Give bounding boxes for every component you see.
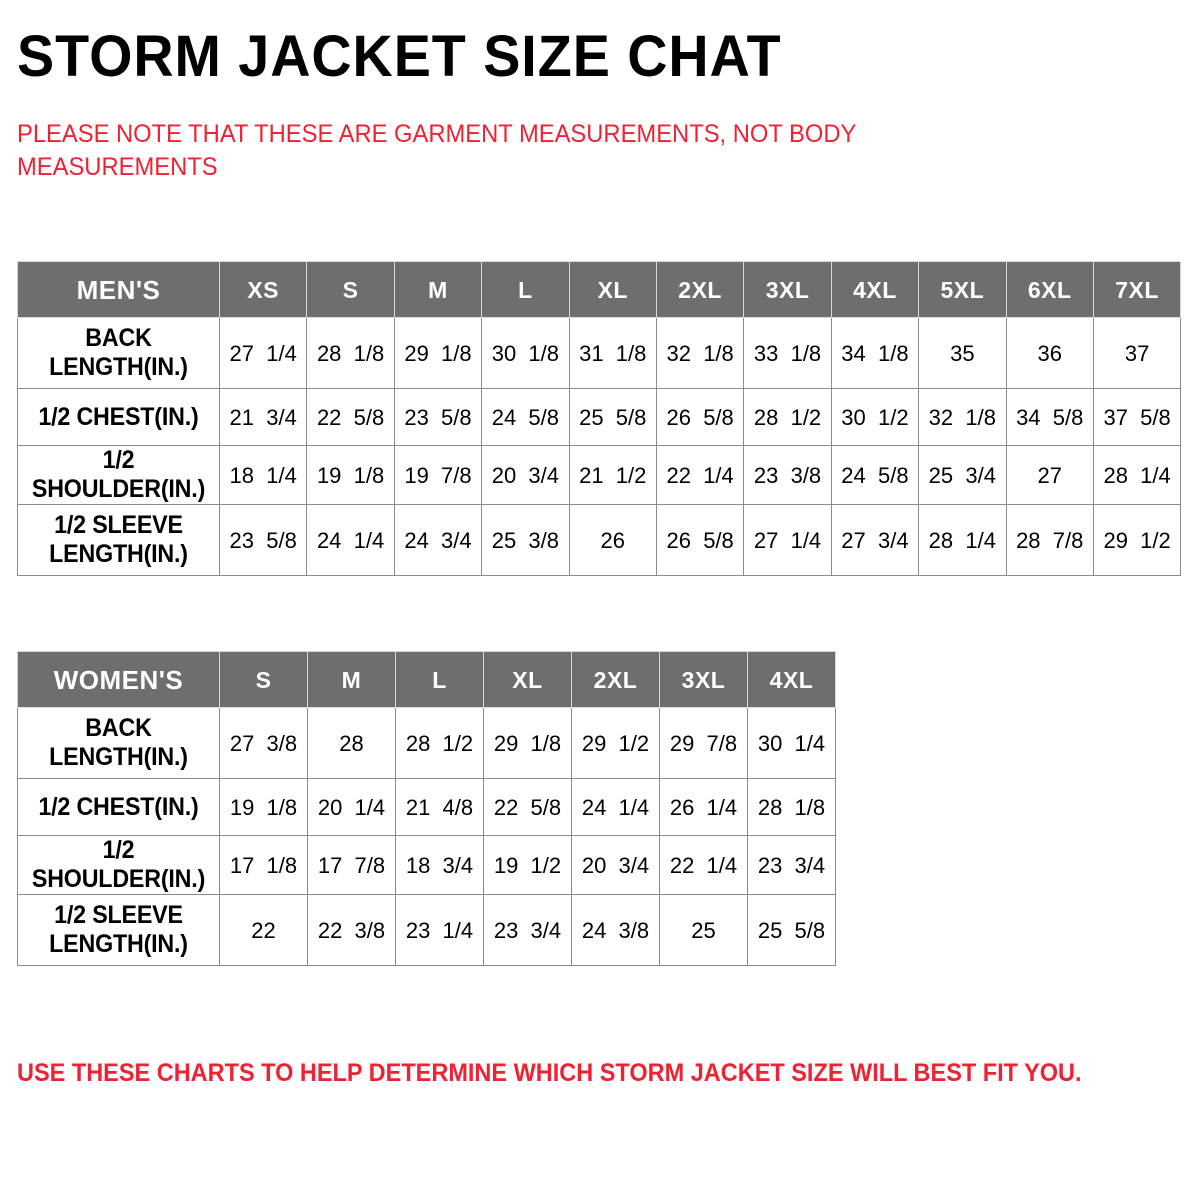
measurement-value: 21 3/4	[230, 404, 297, 431]
measurement-value: 30 1/2	[841, 404, 908, 431]
measurement-cell: 23 3/4	[484, 895, 572, 966]
measurement-cell: 26	[569, 505, 656, 576]
measurement-cell: 24 1/4	[572, 779, 660, 836]
measurement-cell: 29 1/8	[394, 318, 481, 389]
measurement-value: 24 1/4	[317, 527, 384, 554]
row-label-text: BACK LENGTH(IN.)	[27, 714, 210, 772]
measurement-value: 31 1/8	[579, 340, 646, 367]
measurement-cell: 30 1/4	[748, 708, 836, 779]
mens-size-header-3xl: 3XL	[744, 262, 831, 318]
womens-size-header-xl: XL	[484, 652, 572, 708]
mens-size-header-m: M	[394, 262, 481, 318]
measurement-value: 28 1/2	[406, 730, 473, 757]
measurement-value: 27 1/4	[230, 340, 297, 367]
measurement-value: 36	[1037, 340, 1061, 367]
measurement-value: 28 1/8	[317, 340, 384, 367]
measurement-cell: 22 3/8	[308, 895, 396, 966]
mens-corner-header: MEN'S	[18, 262, 220, 318]
measurement-value: 30 1/4	[758, 730, 825, 757]
womens-table-head: WOMEN'SSMLXL2XL3XL4XL	[18, 652, 836, 708]
measurement-value: 24 1/4	[582, 794, 649, 821]
table-row: 1/2 SLEEVE LENGTH(IN.)23 5/824 1/424 3/4…	[18, 505, 1181, 576]
measurement-value: 28 1/2	[754, 404, 821, 431]
womens-size-table: WOMEN'SSMLXL2XL3XL4XL BACK LENGTH(IN.)27…	[17, 651, 836, 966]
page-title: STORM JACKET SIZE CHAT	[17, 26, 782, 88]
measurement-value: 37 5/8	[1103, 404, 1170, 431]
measurement-cell: 28 7/8	[1006, 505, 1093, 576]
measurement-cell: 20 1/4	[308, 779, 396, 836]
mens-header-row: MEN'SXSSMLXL2XL3XL4XL5XL6XL7XL	[18, 262, 1181, 318]
row-label-text: BACK LENGTH(IN.)	[27, 324, 210, 382]
measurement-cell: 29 1/2	[572, 708, 660, 779]
mens-size-header-4xl: 4XL	[831, 262, 918, 318]
measurement-value: 23 5/8	[404, 404, 471, 431]
measurement-cell: 20 3/4	[572, 836, 660, 895]
measurement-cell: 17 7/8	[308, 836, 396, 895]
measurement-cell: 28 1/8	[748, 779, 836, 836]
measurement-cell: 22 1/4	[656, 446, 743, 505]
measurement-value: 29 7/8	[670, 730, 737, 757]
measurement-cell: 28 1/2	[396, 708, 484, 779]
measurement-cell: 27	[1006, 446, 1093, 505]
mens-row-label: 1/2 CHEST(IN.)	[18, 389, 220, 446]
measurement-cell: 22 5/8	[307, 389, 394, 446]
measurement-value: 24 5/8	[492, 404, 559, 431]
measurement-value: 27	[1037, 462, 1061, 489]
measurement-cell: 37 5/8	[1093, 389, 1180, 446]
womens-row-label: 1/2 CHEST(IN.)	[18, 779, 220, 836]
measurement-cell: 24 1/4	[307, 505, 394, 576]
measurement-value: 18 1/4	[230, 462, 297, 489]
mens-size-header-xs: XS	[220, 262, 307, 318]
measurement-value: 20 3/4	[582, 852, 649, 879]
measurement-cell: 22 5/8	[484, 779, 572, 836]
table-row: 1/2 SLEEVE LENGTH(IN.)2222 3/823 1/423 3…	[18, 895, 836, 966]
measurement-value: 21 1/2	[579, 462, 646, 489]
table-row: 1/2 SHOULDER(IN.)18 1/419 1/819 7/820 3/…	[18, 446, 1181, 505]
row-label-text: 1/2 SLEEVE LENGTH(IN.)	[27, 901, 210, 959]
womens-size-header-s: S	[220, 652, 308, 708]
womens-size-header-m: M	[308, 652, 396, 708]
measurement-cell: 29 1/8	[484, 708, 572, 779]
measurement-value: 27 3/8	[230, 730, 297, 757]
measurement-value: 23 3/4	[758, 852, 825, 879]
measurement-value: 23 1/4	[406, 917, 473, 944]
mens-table-head: MEN'SXSSMLXL2XL3XL4XL5XL6XL7XL	[18, 262, 1181, 318]
measurement-cell: 29 1/2	[1093, 505, 1180, 576]
measurement-cell: 35	[919, 318, 1006, 389]
row-label-text: 1/2 CHEST(IN.)	[27, 403, 210, 432]
mens-row-label: 1/2 SHOULDER(IN.)	[18, 446, 220, 505]
measurement-value: 19 7/8	[404, 462, 471, 489]
measurement-cell: 27 3/4	[831, 505, 918, 576]
womens-size-header-2xl: 2XL	[572, 652, 660, 708]
mens-table-body: BACK LENGTH(IN.)27 1/428 1/829 1/830 1/8…	[18, 318, 1181, 576]
measurement-value: 19 1/2	[494, 852, 561, 879]
measurement-cell: 23 3/8	[744, 446, 831, 505]
measurement-value: 20 1/4	[318, 794, 385, 821]
fit-guidance-note: USE THESE CHARTS TO HELP DETERMINE WHICH…	[17, 1058, 1079, 1088]
measurement-cell: 19 1/2	[484, 836, 572, 895]
womens-corner-header: WOMEN'S	[18, 652, 220, 708]
measurement-cell: 25 3/4	[919, 446, 1006, 505]
measurement-cell: 37	[1093, 318, 1180, 389]
measurement-value: 24 3/8	[582, 917, 649, 944]
measurement-value: 23 3/4	[494, 917, 561, 944]
measurement-cell: 19 7/8	[394, 446, 481, 505]
measurement-value: 30 1/8	[492, 340, 559, 367]
measurement-cell: 28 1/2	[744, 389, 831, 446]
mens-row-label: 1/2 SLEEVE LENGTH(IN.)	[18, 505, 220, 576]
table-row: 1/2 CHEST(IN.)19 1/820 1/421 4/822 5/824…	[18, 779, 836, 836]
womens-size-header-4xl: 4XL	[748, 652, 836, 708]
measurement-value: 22 5/8	[494, 794, 561, 821]
womens-header-row: WOMEN'SSMLXL2XL3XL4XL	[18, 652, 836, 708]
measurement-value: 32 1/8	[667, 340, 734, 367]
measurement-cell: 23 1/4	[396, 895, 484, 966]
measurement-cell: 24 5/8	[831, 446, 918, 505]
measurement-cell: 22 1/4	[660, 836, 748, 895]
measurement-value: 27 1/4	[754, 527, 821, 554]
measurement-value: 28 7/8	[1016, 527, 1083, 554]
womens-table-body: BACK LENGTH(IN.)27 3/82828 1/229 1/829 1…	[18, 708, 836, 966]
mens-size-header-s: S	[307, 262, 394, 318]
measurement-value: 25 5/8	[579, 404, 646, 431]
mens-size-header-7xl: 7XL	[1093, 262, 1180, 318]
measurement-value: 29 1/8	[494, 730, 561, 757]
mens-size-header-5xl: 5XL	[919, 262, 1006, 318]
measurement-value: 17 1/8	[230, 852, 297, 879]
measurement-cell: 28 1/4	[1093, 446, 1180, 505]
measurement-value: 18 3/4	[406, 852, 473, 879]
mens-size-header-6xl: 6XL	[1006, 262, 1093, 318]
mens-size-header-xl: XL	[569, 262, 656, 318]
measurement-value: 27 3/4	[841, 527, 908, 554]
measurement-value: 25 5/8	[758, 917, 825, 944]
measurement-cell: 34 1/8	[831, 318, 918, 389]
measurement-value: 20 3/4	[492, 462, 559, 489]
table-row: 1/2 SHOULDER(IN.)17 1/817 7/818 3/419 1/…	[18, 836, 836, 895]
measurement-cell: 24 3/4	[394, 505, 481, 576]
measurement-cell: 19 1/8	[220, 779, 308, 836]
measurement-value: 37	[1125, 340, 1149, 367]
row-label-text: 1/2 CHEST(IN.)	[27, 793, 210, 822]
measurement-cell: 26 5/8	[656, 505, 743, 576]
measurement-value: 22	[251, 917, 275, 944]
measurement-cell: 25	[660, 895, 748, 966]
measurement-value: 22 5/8	[317, 404, 384, 431]
womens-row-label: 1/2 SLEEVE LENGTH(IN.)	[18, 895, 220, 966]
womens-row-label: 1/2 SHOULDER(IN.)	[18, 836, 220, 895]
measurement-cell: 33 1/8	[744, 318, 831, 389]
measurement-cell: 30 1/2	[831, 389, 918, 446]
measurement-cell: 24 3/8	[572, 895, 660, 966]
measurement-cell: 23 5/8	[394, 389, 481, 446]
measurement-cell: 27 1/4	[744, 505, 831, 576]
measurement-value: 22 1/4	[670, 852, 737, 879]
measurement-cell: 31 1/8	[569, 318, 656, 389]
measurement-cell: 25 5/8	[748, 895, 836, 966]
measurement-cell: 36	[1006, 318, 1093, 389]
measurement-value: 24 5/8	[841, 462, 908, 489]
measurement-cell: 28 1/4	[919, 505, 1006, 576]
measurement-cell: 27 3/8	[220, 708, 308, 779]
table-row: 1/2 CHEST(IN.)21 3/422 5/823 5/824 5/825…	[18, 389, 1181, 446]
measurement-cell: 18 1/4	[220, 446, 307, 505]
row-label-text: 1/2 SHOULDER(IN.)	[27, 446, 210, 504]
measurement-cell: 25 5/8	[569, 389, 656, 446]
measurement-value: 28 1/8	[758, 794, 825, 821]
measurement-value: 19 1/8	[230, 794, 297, 821]
measurement-value: 21 4/8	[406, 794, 473, 821]
mens-size-header-l: L	[482, 262, 569, 318]
measurement-value: 25 3/8	[492, 527, 559, 554]
womens-size-header-3xl: 3XL	[660, 652, 748, 708]
measurement-value: 22 1/4	[667, 462, 734, 489]
measurement-cell: 19 1/8	[307, 446, 394, 505]
measurement-value: 34 5/8	[1016, 404, 1083, 431]
measurement-cell: 21 1/2	[569, 446, 656, 505]
measurement-value: 26	[601, 527, 625, 554]
measurement-value: 19 1/8	[317, 462, 384, 489]
measurement-cell: 26 1/4	[660, 779, 748, 836]
garment-measurement-note: PLEASE NOTE THAT THESE ARE GARMENT MEASU…	[17, 118, 929, 184]
measurement-value: 29 1/8	[404, 340, 471, 367]
measurement-cell: 26 5/8	[656, 389, 743, 446]
measurement-cell: 28	[308, 708, 396, 779]
measurement-value: 28	[339, 730, 363, 757]
row-label-text: 1/2 SHOULDER(IN.)	[27, 836, 210, 894]
row-label-text: 1/2 SLEEVE LENGTH(IN.)	[27, 511, 210, 569]
measurement-cell: 18 3/4	[396, 836, 484, 895]
measurement-value: 34 1/8	[841, 340, 908, 367]
mens-row-label: BACK LENGTH(IN.)	[18, 318, 220, 389]
measurement-cell: 23 3/4	[748, 836, 836, 895]
measurement-cell: 21 3/4	[220, 389, 307, 446]
measurement-cell: 20 3/4	[482, 446, 569, 505]
measurement-cell: 30 1/8	[482, 318, 569, 389]
measurement-value: 23 3/8	[754, 462, 821, 489]
measurement-value: 24 3/4	[404, 527, 471, 554]
measurement-cell: 28 1/8	[307, 318, 394, 389]
measurement-value: 25 3/4	[929, 462, 996, 489]
measurement-cell: 22	[220, 895, 308, 966]
womens-row-label: BACK LENGTH(IN.)	[18, 708, 220, 779]
measurement-value: 29 1/2	[1103, 527, 1170, 554]
measurement-value: 23 5/8	[230, 527, 297, 554]
measurement-cell: 17 1/8	[220, 836, 308, 895]
measurement-value: 28 1/4	[929, 527, 996, 554]
measurement-value: 26 5/8	[667, 527, 734, 554]
table-row: BACK LENGTH(IN.)27 1/428 1/829 1/830 1/8…	[18, 318, 1181, 389]
measurement-value: 29 1/2	[582, 730, 649, 757]
mens-size-table: MEN'SXSSMLXL2XL3XL4XL5XL6XL7XL BACK LENG…	[17, 261, 1181, 576]
womens-size-header-l: L	[396, 652, 484, 708]
measurement-cell: 23 5/8	[220, 505, 307, 576]
measurement-value: 26 1/4	[670, 794, 737, 821]
measurement-cell: 34 5/8	[1006, 389, 1093, 446]
measurement-cell: 27 1/4	[220, 318, 307, 389]
measurement-value: 26 5/8	[667, 404, 734, 431]
measurement-cell: 24 5/8	[482, 389, 569, 446]
measurement-cell: 29 7/8	[660, 708, 748, 779]
measurement-value: 25	[691, 917, 715, 944]
mens-size-header-2xl: 2XL	[656, 262, 743, 318]
measurement-value: 28 1/4	[1103, 462, 1170, 489]
measurement-cell: 25 3/8	[482, 505, 569, 576]
table-row: BACK LENGTH(IN.)27 3/82828 1/229 1/829 1…	[18, 708, 836, 779]
measurement-cell: 32 1/8	[919, 389, 1006, 446]
measurement-cell: 32 1/8	[656, 318, 743, 389]
measurement-value: 35	[950, 340, 974, 367]
measurement-value: 22 3/8	[318, 917, 385, 944]
measurement-value: 33 1/8	[754, 340, 821, 367]
measurement-value: 17 7/8	[318, 852, 385, 879]
measurement-value: 32 1/8	[929, 404, 996, 431]
size-chart-page: STORM JACKET SIZE CHAT PLEASE NOTE THAT …	[0, 0, 1200, 1200]
measurement-cell: 21 4/8	[396, 779, 484, 836]
